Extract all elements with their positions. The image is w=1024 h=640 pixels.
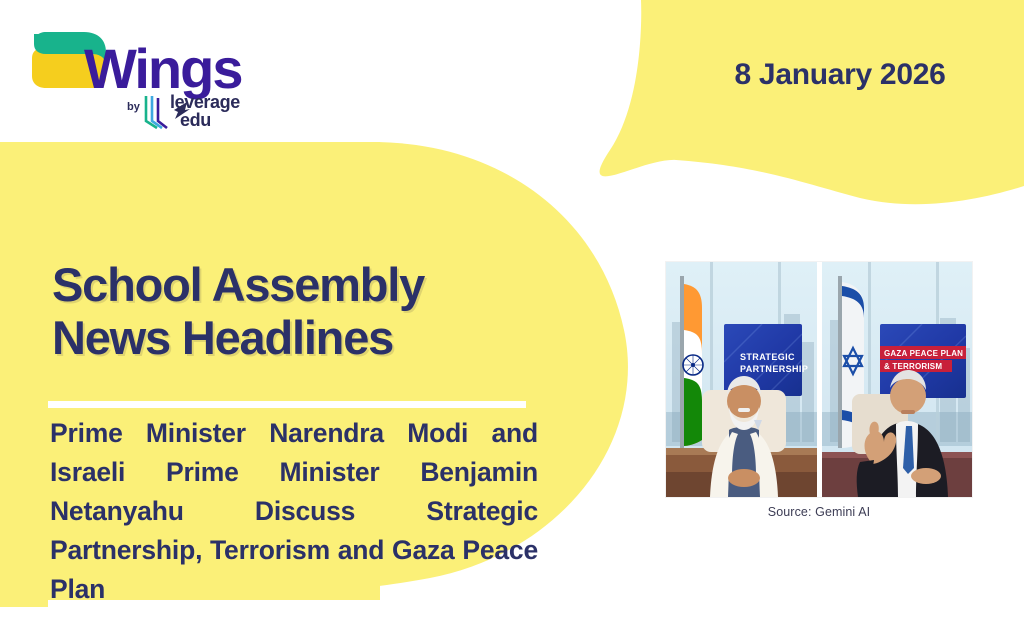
divider-bottom xyxy=(48,600,526,607)
screen-text-partnership: PARTNERSHIP xyxy=(740,364,808,374)
photo-panel-divider xyxy=(817,262,822,497)
screen-text-gaza-peace-plan: GAZA PEACE PLAN xyxy=(884,349,963,358)
photo-caption: Source: Gemini AI xyxy=(666,505,972,519)
news-photo: STRATEGIC PARTNERSHIP xyxy=(666,262,972,497)
news-photo-frame: STRATEGIC PARTNERSHIP xyxy=(666,262,972,497)
photo-panel-modi: STRATEGIC PARTNERSHIP xyxy=(666,262,817,497)
page-title-line-1: School Assembly xyxy=(52,258,552,311)
wings-logo[interactable]: Wings by leverage edu xyxy=(22,18,252,133)
screen-text-terrorism: & TERRORISM xyxy=(884,362,942,371)
logo-brand-line2: edu xyxy=(180,110,211,130)
page-title: School Assembly News Headlines xyxy=(52,258,552,364)
photo-panel-netanyahu: GAZA PEACE PLAN & TERRORISM xyxy=(822,262,972,497)
top-right-yellow-blob xyxy=(600,0,1024,204)
logo-by-label: by xyxy=(127,101,141,113)
india-flag-icon xyxy=(680,276,703,448)
divider-top xyxy=(48,401,526,408)
poster-date: 8 January 2026 xyxy=(700,58,980,92)
page-title-line-2: News Headlines xyxy=(52,311,552,364)
poster-canvas: Wings by leverage edu 8 January 2026 Sch… xyxy=(0,0,1024,640)
logo-wordmark: Wings xyxy=(84,37,241,100)
screen-text-strategic: STRATEGIC xyxy=(740,352,795,362)
logo-brand-line1: leverage xyxy=(170,92,240,112)
